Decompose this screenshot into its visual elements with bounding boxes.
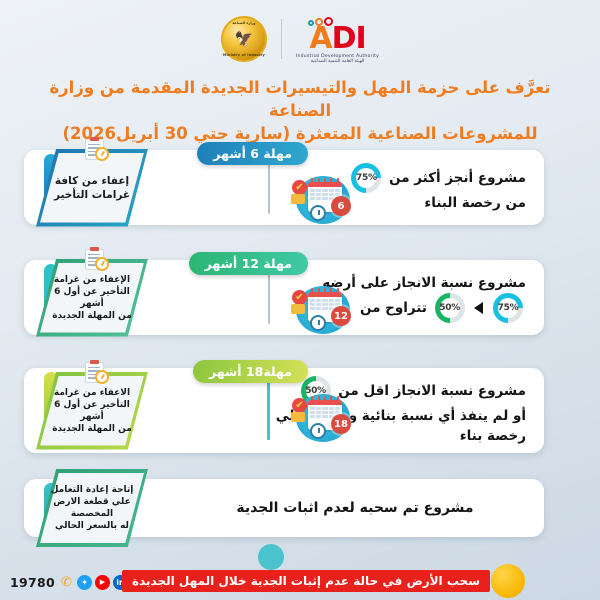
benefit-line-3: من المهلة الجديدة — [52, 310, 132, 322]
ida-wordmark: I D A — [309, 25, 365, 53]
twitter-icon[interactable]: ✦ — [77, 575, 92, 590]
benefit-line-1: الإعفاء من غرامة — [54, 274, 130, 286]
donut-75-value: 75% — [356, 168, 376, 188]
benefit-row-withdrawn: مشروع تم سحبه لعدم اثبات الجدية إتاحة إع… — [0, 473, 600, 543]
ida-subtitle-ar: الهيئة العامة للتنمية الصناعية — [311, 59, 365, 64]
stopwatch-icon — [95, 147, 109, 161]
eagle-icon: 🦅 — [235, 32, 254, 47]
calendar-illustration: ✔ 6 — [290, 174, 352, 226]
row-separator — [267, 381, 270, 440]
benefit-diamond: الاعفاء من غرامة التأخير عن أول 6 أشهر م… — [36, 372, 148, 450]
calendar-rings-icon — [309, 178, 341, 185]
decorative-circle-teal — [258, 544, 284, 570]
clipboard-icon — [82, 360, 108, 384]
ida-letter-i: I — [355, 25, 365, 53]
benefit-row-6-months: مشروع أنجز أكثر من 75% من رخصة البناء مه… — [0, 140, 600, 235]
benefit-row-18-months: مشروع نسبة الانجاز اقل من 50% أو لم ينفذ… — [0, 358, 600, 463]
calendar-month-number: 12 — [331, 306, 351, 326]
donut-75-value: 75% — [498, 298, 518, 318]
deadline-pill: مهلة18 أشهر — [193, 360, 308, 383]
header-divider — [281, 19, 282, 59]
benefit-line-1: إعفاء من كافة — [55, 174, 129, 188]
decorative-circle-yellow — [491, 564, 525, 598]
clipboard-icon — [82, 137, 108, 161]
warning-banner: سحب الأرض في حالة عدم إثبات الجدية خلال … — [122, 570, 490, 592]
benefit-diamond: الإعفاء من غرامة التأخير عن أول 6 أشهر م… — [36, 259, 148, 337]
calendar-rings-icon — [309, 288, 341, 295]
benefit-line-1: الاعفاء من غرامة — [54, 387, 130, 399]
note-icon — [291, 412, 305, 422]
benefit-text: إتاحة إعادة التعامل علي قطعة الارض المخص… — [36, 469, 148, 547]
condition-line-1: مشروع أنجز أكثر من — [389, 170, 526, 186]
clock-icon — [310, 423, 326, 439]
ministry-ring-top-text: وزارة الصناعة — [223, 21, 265, 25]
row-separator — [268, 161, 270, 214]
title-line-1: تعرَّف على حزمة المهل والتيسيرات الجديدة… — [49, 78, 550, 120]
calendar-month-number: 18 — [331, 414, 351, 434]
deadline-pill: مهلة 6 أشهر — [197, 142, 308, 165]
benefit-row-12-months: مشروع نسبة الانجاز على أرضه 75% 50% تترا… — [0, 250, 600, 345]
youtube-icon[interactable]: ▶ — [95, 575, 110, 590]
donut-75: 75% — [351, 163, 381, 193]
benefit-line-2: غرامات التأخير — [54, 188, 130, 202]
calendar-illustration: ✔ 12 — [290, 284, 352, 336]
arrow-left-icon — [474, 302, 483, 314]
ida-logo: I D A Industrial Development Authority ا… — [296, 14, 379, 64]
row-separator — [268, 271, 270, 324]
check-icon: ✔ — [292, 290, 307, 305]
benefit-diamond: إتاحة إعادة التعامل علي قطعة الارض المخص… — [36, 469, 148, 547]
donut-50: 50% — [435, 293, 465, 323]
deadline-pill: مهلة 12 أشهر — [189, 252, 308, 275]
check-icon: ✔ — [292, 398, 307, 413]
benefit-line-2: التأخير عن أول 6 أشهر — [44, 286, 140, 310]
benefit-diamond: إعفاء من كافة غرامات التأخير — [36, 149, 148, 227]
benefit-line-3: من المهلة الجديدة — [52, 423, 132, 435]
note-icon — [291, 194, 305, 204]
condition-line-2: تتراوح من — [360, 300, 427, 316]
stopwatch-icon — [95, 370, 109, 384]
condition-text: مشروع تم سحبه لعدم اثبات الجدية — [190, 498, 520, 518]
ministry-emblem: 🦅 — [229, 24, 259, 54]
calendar-rings-icon — [309, 396, 341, 403]
ministry-of-industry-logo: وزارة الصناعة 🦅 Ministry of Industry — [221, 16, 267, 62]
benefit-line-2: علي قطعة الارض المخصصة — [44, 496, 140, 520]
footer: f ◉ in ▶ ✦ ✆ 19780 سحب الأرض في حالة عدم… — [0, 558, 600, 600]
donut-75: 75% — [493, 293, 523, 323]
calendar-month-number: 6 — [331, 196, 351, 216]
ida-gears-icon — [308, 14, 333, 26]
infographic-page: I D A Industrial Development Authority ا… — [0, 0, 600, 600]
stopwatch-icon — [95, 257, 109, 271]
note-icon — [291, 304, 305, 314]
clock-icon — [310, 315, 326, 331]
phone-number[interactable]: 19780 — [10, 575, 55, 590]
condition-line-1: مشروع نسبة الانجاز اقل من — [338, 383, 526, 399]
ida-letter-a: A — [309, 25, 331, 53]
check-icon: ✔ — [292, 180, 307, 195]
benefit-line-3: له بالسعر الحالي — [55, 520, 129, 532]
phone-icon: ✆ — [61, 575, 72, 590]
benefit-line-2: التأخير عن أول 6 أشهر — [44, 399, 140, 423]
ministry-ring-bottom-text: Ministry of Industry — [223, 53, 265, 57]
page-title: تعرَّف على حزمة المهل والتيسيرات الجديدة… — [18, 76, 582, 145]
calendar-illustration: ✔ 18 — [290, 392, 352, 444]
donut-50-value: 50% — [440, 298, 460, 318]
condition-line-1: مشروع تم سحبه لعدم اثبات الجدية — [190, 498, 520, 518]
ida-letter-d: D — [332, 25, 356, 53]
clipboard-icon — [82, 247, 108, 271]
clock-icon — [310, 205, 326, 221]
header-logos: I D A Industrial Development Authority ا… — [0, 10, 600, 68]
benefit-line-1: إتاحة إعادة التعامل — [51, 484, 134, 496]
